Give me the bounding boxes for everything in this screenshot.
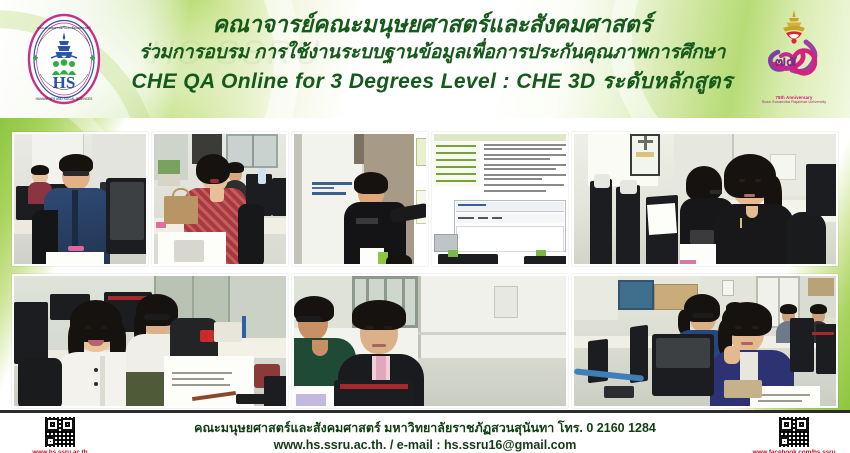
footer-band: www.hs.ssru.ac.th คณะมนุษยศาสตร์และสังคม…: [0, 410, 850, 453]
anniversary-emblem-icon: ๗๕: [756, 6, 832, 90]
anniversary-logo: ๗๕ 75th Anniversary Suan Sunandha Rajabh…: [756, 6, 832, 110]
gallery-photo: [152, 132, 288, 266]
headline-line-3: CHE QA Online for 3 Degrees Level : CHE …: [108, 66, 756, 97]
gallery-photo: [292, 274, 568, 408]
gallery-photo: [572, 274, 838, 408]
footer-contact-line: คณะมนุษยศาสตร์และสังคมศาสตร์ มหาวิทยาลัย…: [110, 419, 740, 437]
banner-root: HS SSRU คณะมนุษยศาสตร์และสังคมศาสตร์: [0, 0, 850, 453]
gallery-photo: [432, 132, 568, 266]
anniversary-caption-2: Suan Sunandha Rajabhat University: [756, 100, 832, 105]
svg-text:HUMANITIES AND SOCIAL SCIENCES: HUMANITIES AND SOCIAL SCIENCES: [36, 97, 93, 101]
anniversary-numeral: ๗๕: [775, 54, 798, 70]
qr-code-icon[interactable]: [778, 416, 810, 448]
footer-web-line: www.hs.ssru.ac.th. / e-mail : hs.ssru16@…: [110, 437, 740, 453]
seal-initials: HS: [53, 73, 76, 92]
qr-website-caption: www.hs.ssru.ac.th: [12, 449, 108, 453]
footer-contact-text: คณะมนุษยศาสตร์และสังคมศาสตร์ มหาวิทยาลัย…: [110, 419, 740, 453]
gallery-photo: [12, 132, 148, 266]
qr-code-icon[interactable]: [44, 416, 76, 448]
gallery-photo: [572, 132, 838, 266]
gallery-photo: [12, 274, 288, 408]
faculty-seal-logo: คณะมนุษยศาสตร์และสังคมศาสตร์: [26, 12, 102, 106]
headline-line-2: ร่วมการอบรม การใช้งานระบบฐานข้อมูลเพื่อก…: [108, 39, 756, 66]
headline-line-1: คณาจารย์คณะมนุษยศาสตร์และสังคมศาสตร์: [108, 9, 756, 39]
gallery-photo: [292, 132, 428, 266]
faculty-seal-icon: คณะมนุษยศาสตร์และสังคมศาสตร์: [26, 12, 102, 106]
qr-facebook-block[interactable]: www.facebook.com/hs.ssru: [746, 416, 842, 453]
photo-gallery: [0, 118, 850, 410]
header-band: HS SSRU คณะมนุษยศาสตร์และสังคมศาสตร์: [0, 0, 850, 118]
qr-website-block[interactable]: www.hs.ssru.ac.th: [12, 416, 108, 453]
qr-facebook-caption: www.facebook.com/hs.ssru: [746, 449, 842, 453]
headline-block: คณาจารย์คณะมนุษยศาสตร์และสังคมศาสตร์ ร่ว…: [108, 9, 756, 97]
